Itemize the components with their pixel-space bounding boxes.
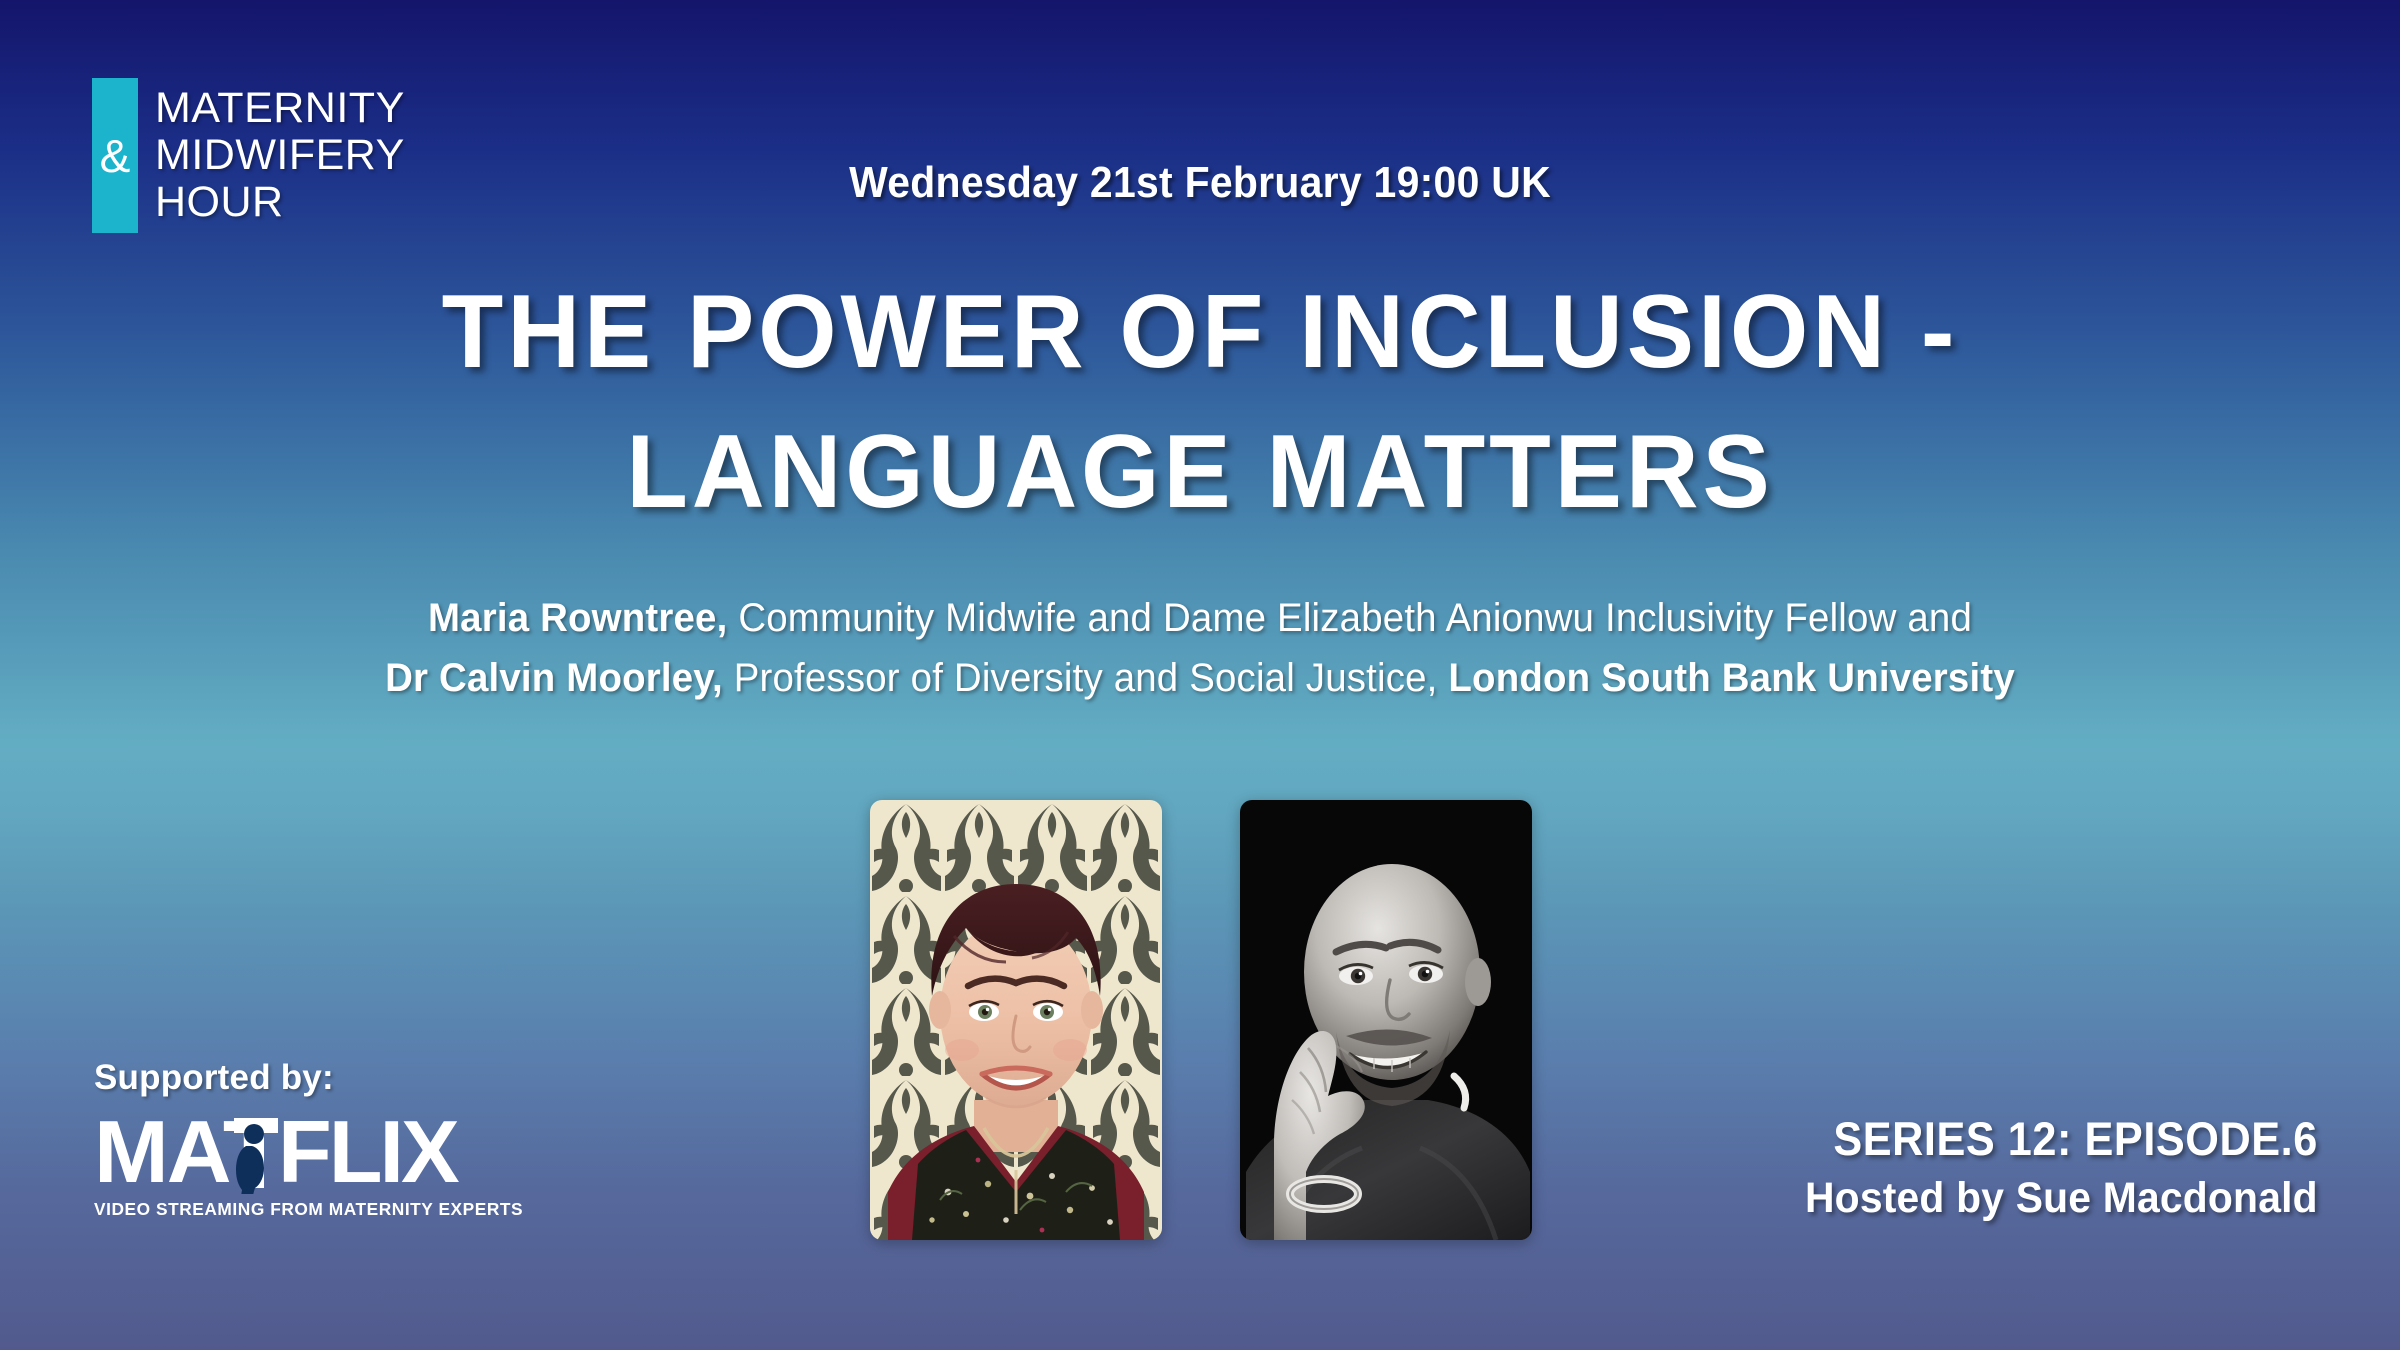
event-date-time: Wednesday 21st February 19:00 UK [84,158,2316,208]
speaker-credits: Maria Rowntree, Community Midwife and Da… [48,588,2352,708]
page-title: THE POWER OF INCLUSION - LANGUAGE MATTER… [0,262,2400,542]
speaker-credit-row-1: Maria Rowntree, Community Midwife and Da… [48,588,2352,648]
speaker-role-2: Professor of Diversity and Social Justic… [723,656,1449,700]
logo-line-1: MATERNITY [155,85,405,132]
speaker-name-2: Dr Calvin Moorley, [385,656,723,700]
speaker-credit-row-2: Dr Calvin Moorley, Professor of Diversit… [48,648,2352,708]
speaker-photo-maria-rowntree [870,800,1162,1240]
speaker-photo-calvin-moorley [1240,800,1532,1240]
speaker-affiliation-2: London South Bank University [1448,656,2014,700]
matflix-logo: MAT FLIX [94,1112,469,1194]
supported-by-block: Supported by: MAT FLIX VIDEO STREAMING [94,1058,527,1220]
host-label: Hosted by Sue Macdonald [1805,1170,2318,1226]
portrait-illustration-2 [1240,800,1532,1240]
logo-accent-bar: & [92,78,138,233]
speaker-role-1: Community Midwife and Dame Elizabeth Ani… [727,596,1972,640]
promo-poster: & MATERNITY MIDWIFERY HOUR Wednesday 21s… [0,0,2400,1350]
title-line-1: THE POWER OF INCLUSION - [36,262,2364,402]
series-episode-block: SERIES 12: EPISODE.6 Hosted by Sue Macdo… [1778,1110,2318,1226]
portrait-illustration-1 [870,800,1162,1240]
maternity-midwifery-hour-logo: & MATERNITY MIDWIFERY HOUR [92,78,405,233]
matflix-text-flix: FLIX [278,1112,459,1194]
title-line-2: LANGUAGE MATTERS [36,402,2364,542]
supported-by-label: Supported by: [94,1058,527,1098]
logo-wordmark: MATERNITY MIDWIFERY HOUR [138,78,405,233]
speaker-name-1: Maria Rowntree, [428,596,727,640]
series-episode-label: SERIES 12: EPISODE.6 [1821,1110,2318,1168]
matflix-tagline: VIDEO STREAMING FROM MATERNITY EXPERTS [94,1199,523,1220]
matflix-wordmark: MAT FLIX [94,1112,469,1194]
